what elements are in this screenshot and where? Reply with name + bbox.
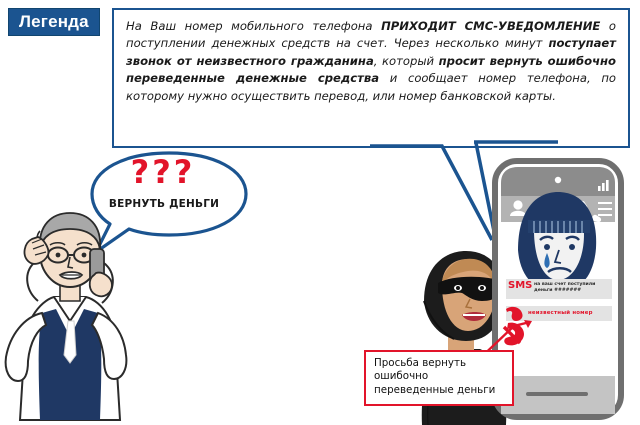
red-callout-line: ошибочно (374, 370, 428, 382)
description-emphasis: ПРИХОДИТ СМС-УВЕДОМЛЕНИЕ (381, 19, 600, 33)
victim-illustration (2, 205, 137, 425)
bubble-question-marks: ??? (118, 155, 208, 189)
description-span: На Ваш номер мобильного телефона (126, 19, 381, 33)
legend-badge: Легенда (8, 8, 100, 36)
sms-tag: SMS (508, 281, 532, 291)
description-span: , который (374, 54, 439, 68)
red-callout-line: переведенные деньги (374, 384, 495, 396)
infographic-canvas: Легенда На Ваш номер мобильного телефона… (0, 0, 640, 425)
red-callout-line: Просьба вернуть (374, 357, 466, 369)
sms-body-text: на ваш счет поступили деньги ####### (534, 282, 612, 295)
description-text: На Ваш номер мобильного телефона ПРИХОДИ… (126, 18, 616, 105)
description-box: На Ваш номер мобильного телефона ПРИХОДИ… (112, 8, 630, 148)
red-callout-text: Просьба вернутьошибочнопереведенные день… (374, 357, 506, 397)
red-callout-box: Просьба вернутьошибочнопереведенные день… (364, 350, 514, 406)
caller-label: неизвестный номер (528, 310, 612, 317)
